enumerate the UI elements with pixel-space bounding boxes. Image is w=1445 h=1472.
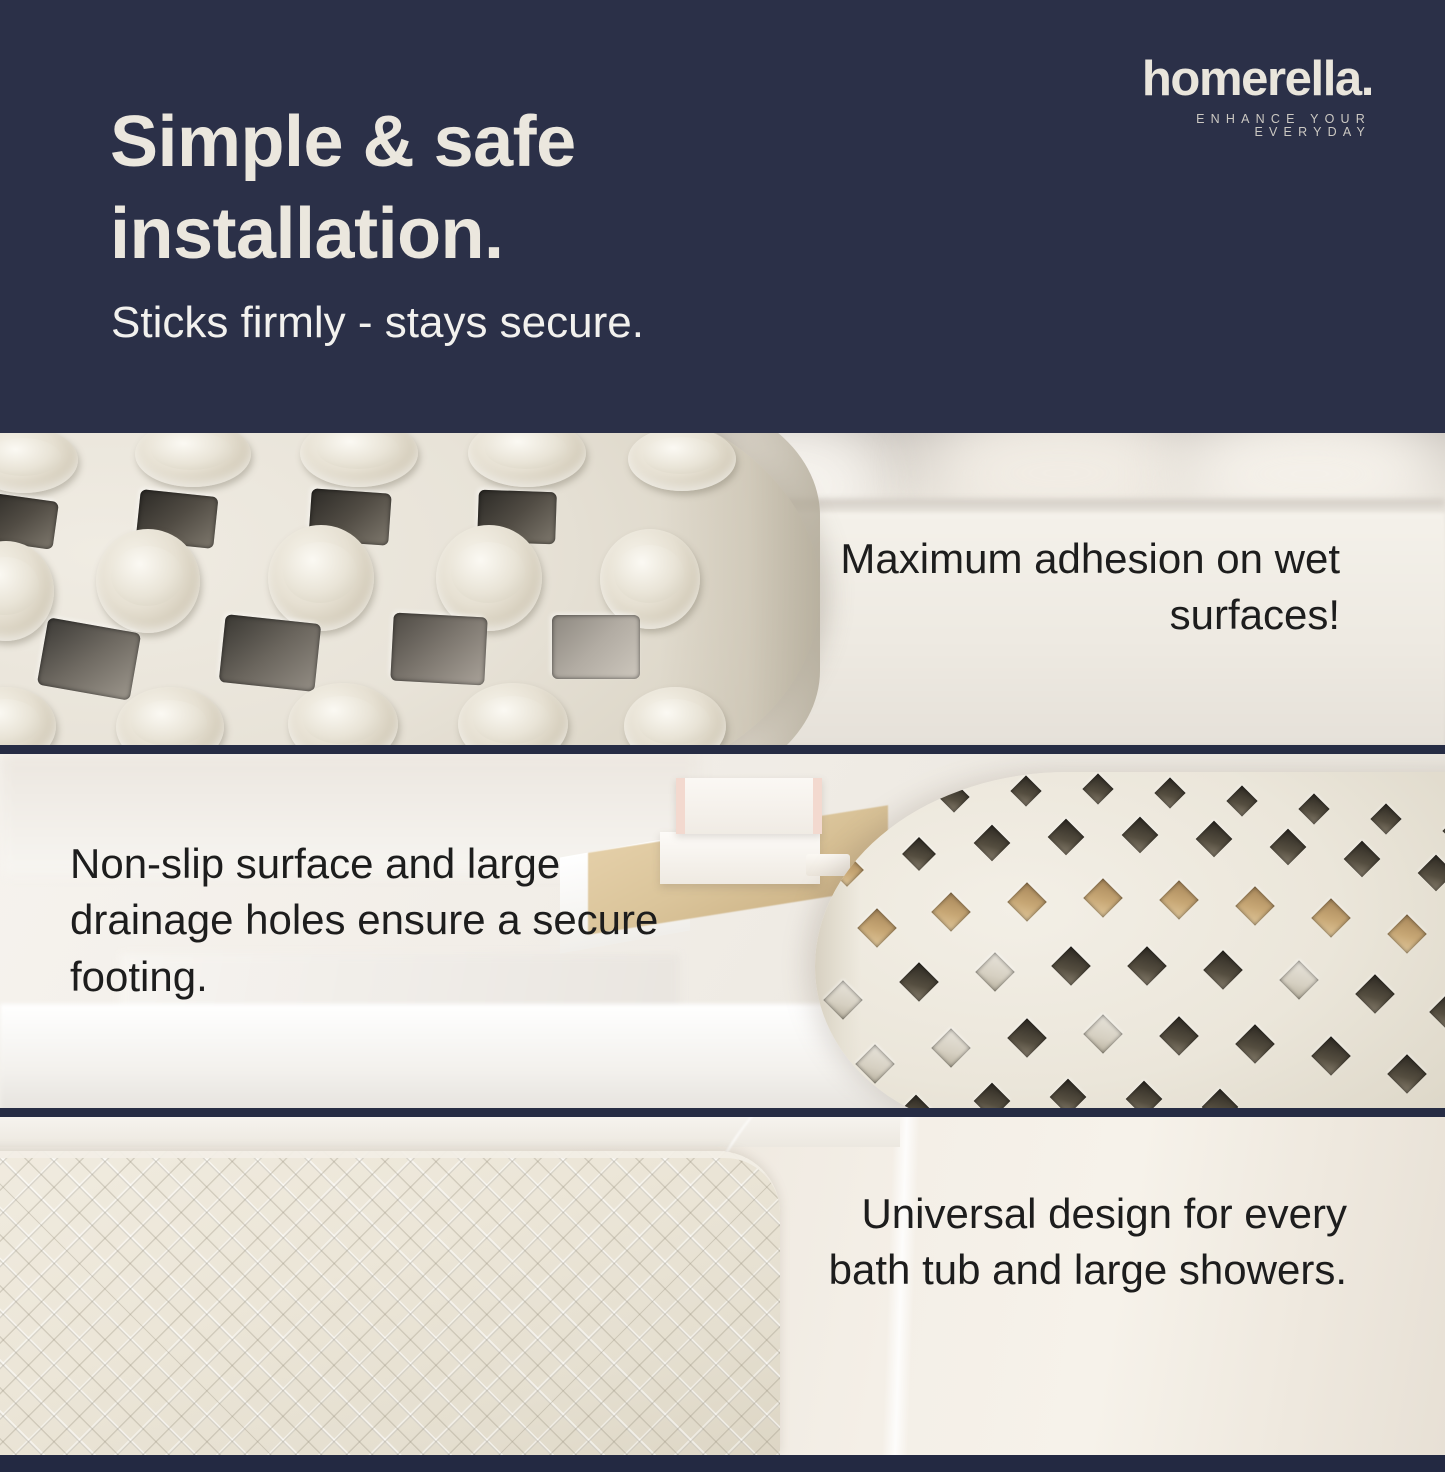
drainage-hole bbox=[1387, 1054, 1427, 1094]
drainage-hole bbox=[219, 614, 322, 692]
drainage-hole bbox=[1154, 777, 1185, 808]
product-infographic: Simple & safe installation. Sticks firml… bbox=[0, 0, 1445, 1472]
drainage-hole bbox=[1083, 1014, 1123, 1054]
drainage-hole bbox=[1418, 855, 1445, 892]
header-banner: Simple & safe installation. Sticks firml… bbox=[0, 0, 1445, 433]
drainage-hole bbox=[1010, 775, 1041, 806]
drainage-hole bbox=[1051, 946, 1091, 986]
drainage-hole bbox=[1083, 878, 1123, 918]
brand-tagline: ENHANCE YOUR EVERYDAY bbox=[1073, 113, 1373, 138]
drainage-hole bbox=[975, 952, 1015, 992]
drainage-hole bbox=[931, 892, 971, 932]
drainage-hole bbox=[552, 615, 640, 679]
drainage-hole bbox=[931, 1028, 971, 1068]
drainage-hole bbox=[1235, 1024, 1275, 1064]
feature-caption-universal-design: Universal design for every bath tub and … bbox=[787, 1186, 1347, 1299]
drainage-hole bbox=[1429, 992, 1445, 1032]
drainage-hole bbox=[1311, 1036, 1351, 1076]
brand-logo: homerella. ENHANCE YOUR EVERYDAY bbox=[1073, 55, 1373, 138]
suction-cup bbox=[96, 529, 200, 633]
drainage-hole bbox=[902, 837, 936, 871]
drainage-hole bbox=[899, 962, 939, 1002]
bath-mat-border bbox=[0, 1151, 780, 1455]
drainage-hole bbox=[1235, 886, 1275, 926]
bath-mat-curved bbox=[815, 772, 1445, 1108]
drainage-hole bbox=[1387, 914, 1427, 954]
page-title: Simple & safe installation. bbox=[110, 96, 930, 280]
drainage-hole bbox=[974, 825, 1011, 862]
drainage-hole bbox=[1370, 803, 1401, 834]
bath-mat-rim bbox=[815, 772, 861, 1108]
panel-divider bbox=[0, 1108, 1445, 1117]
drainage-hole bbox=[1344, 841, 1381, 878]
drainage-hole bbox=[1203, 950, 1243, 990]
drainage-hole bbox=[1270, 829, 1307, 866]
drainage-hole bbox=[1126, 1081, 1163, 1108]
panel-divider bbox=[0, 745, 1445, 754]
feature-caption-adhesion: Maximum adhesion on wet surfaces! bbox=[720, 531, 1340, 644]
drainage-hole bbox=[1159, 1016, 1199, 1056]
drainage-hole bbox=[1355, 974, 1395, 1014]
drainage-hole bbox=[1279, 960, 1319, 1000]
page-subtitle: Sticks firmly - stays secure. bbox=[111, 295, 911, 350]
drainage-hole bbox=[1298, 793, 1329, 824]
suction-cup bbox=[600, 529, 700, 629]
drainage-hole bbox=[1007, 882, 1047, 922]
bath-mat-flat bbox=[0, 1151, 780, 1455]
soap-box bbox=[676, 778, 822, 834]
drainage-hole bbox=[390, 613, 487, 686]
brand-wordmark: homerella. bbox=[1073, 55, 1373, 104]
drainage-hole bbox=[1159, 880, 1199, 920]
drainage-hole bbox=[1127, 946, 1167, 986]
drainage-hole bbox=[1048, 819, 1085, 856]
drainage-hole bbox=[1202, 1089, 1239, 1108]
drainage-hole bbox=[1311, 898, 1351, 938]
suction-cup bbox=[268, 525, 374, 631]
drainage-hole bbox=[1082, 773, 1113, 804]
drainage-hole bbox=[1007, 1018, 1047, 1058]
drainage-hole bbox=[938, 781, 969, 812]
drainage-hole bbox=[1122, 817, 1159, 854]
drainage-hole bbox=[1050, 1079, 1087, 1108]
drainage-hole bbox=[974, 1083, 1011, 1108]
drainage-hole bbox=[857, 908, 897, 948]
feature-caption-drainage: Non-slip surface and large drainage hole… bbox=[70, 836, 690, 1005]
drainage-hole bbox=[1196, 821, 1233, 858]
drainage-hole bbox=[898, 1095, 935, 1108]
bottom-band bbox=[0, 1455, 1445, 1472]
drainage-hole bbox=[1226, 785, 1257, 816]
bathtub-rim bbox=[0, 1004, 900, 1108]
